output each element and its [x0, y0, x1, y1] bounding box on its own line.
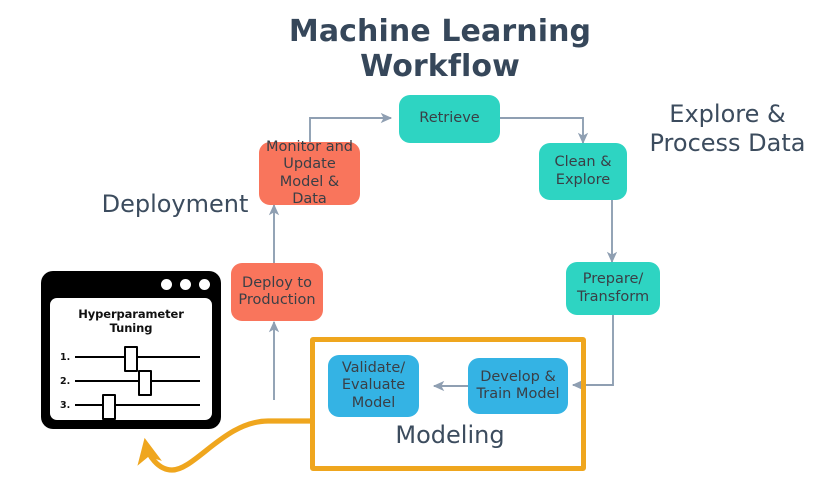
node-deploy-line-2: Production — [238, 292, 315, 309]
node-monitor-update[interactable]: Monitor and Update Model & Data — [259, 142, 360, 205]
window-dot-icon-2[interactable] — [180, 279, 191, 290]
node-deploy-to-production[interactable]: Deploy to Production — [231, 263, 323, 321]
node-prepare-transform[interactable]: Prepare/ Transform — [566, 262, 660, 315]
node-validate-evaluate-line-2: Evaluate — [342, 377, 405, 394]
page-title: Machine Learning Workflow — [230, 14, 650, 85]
hyperparameter-tuning-window[interactable]: Hyperparameter Tuning 1. 2. 3. — [41, 271, 221, 429]
node-develop-train-line-1: Develop & — [477, 369, 560, 386]
section-label-explore-process: Explore & Process Data — [640, 100, 815, 158]
page-title-line-2: Workflow — [360, 49, 520, 84]
node-clean-explore-line-2: Explore — [554, 172, 611, 189]
node-clean-explore[interactable]: Clean & Explore — [539, 143, 627, 200]
window-title-bar — [41, 271, 221, 298]
node-monitor-line-2: Update — [264, 156, 355, 173]
node-prepare-transform-line-1: Prepare/ — [577, 271, 649, 288]
section-label-modeling: Modeling — [360, 421, 540, 450]
diagram-canvas: Machine Learning Workflow Explore & Proc… — [0, 0, 820, 502]
slider-1-track[interactable] — [75, 356, 200, 358]
slider-row-2[interactable]: 2. — [56, 369, 206, 393]
node-retrieve[interactable]: Retrieve — [399, 95, 500, 143]
window-body: Hyperparameter Tuning 1. 2. 3. — [50, 298, 212, 420]
node-clean-explore-line-1: Clean & — [554, 154, 611, 171]
slider-row-1[interactable]: 1. — [56, 345, 206, 369]
node-monitor-line-3: Model & Data — [264, 174, 355, 208]
slider-row-3[interactable]: 3. — [56, 393, 206, 417]
node-develop-train-model[interactable]: Develop & Train Model — [468, 358, 568, 414]
node-validate-evaluate-line-1: Validate/ — [342, 360, 405, 377]
slider-3-label: 3. — [60, 400, 75, 411]
hyperparameter-panel-title: Hyperparameter Tuning — [56, 307, 206, 335]
explore-process-line-2: Process Data — [650, 129, 806, 157]
node-validate-evaluate-line-3: Model — [342, 395, 405, 412]
section-label-deployment: Deployment — [85, 190, 265, 219]
slider-3-handle[interactable] — [102, 394, 116, 420]
slider-1-handle[interactable] — [124, 346, 138, 372]
deployment-line-1: Deployment — [102, 190, 249, 218]
node-deploy-line-1: Deploy to — [238, 275, 315, 292]
page-title-line-1: Machine Learning — [289, 14, 591, 49]
node-develop-train-line-2: Train Model — [477, 386, 560, 403]
node-prepare-transform-line-2: Transform — [577, 289, 649, 306]
arrow-retrieve-to-clean — [500, 118, 583, 143]
slider-2-handle[interactable] — [138, 370, 152, 396]
window-dot-icon-1[interactable] — [161, 279, 172, 290]
window-dot-icon-3[interactable] — [199, 279, 210, 290]
node-retrieve-line-1: Retrieve — [419, 110, 479, 127]
slider-1-label: 1. — [60, 352, 75, 363]
slider-2-track[interactable] — [75, 380, 200, 382]
explore-process-line-1: Explore & — [669, 100, 785, 128]
slider-3-track[interactable] — [75, 404, 200, 406]
node-validate-evaluate-model[interactable]: Validate/ Evaluate Model — [328, 355, 419, 417]
slider-2-label: 2. — [60, 376, 75, 387]
modeling-line-1: Modeling — [395, 421, 504, 449]
node-monitor-line-1: Monitor and — [264, 139, 355, 156]
